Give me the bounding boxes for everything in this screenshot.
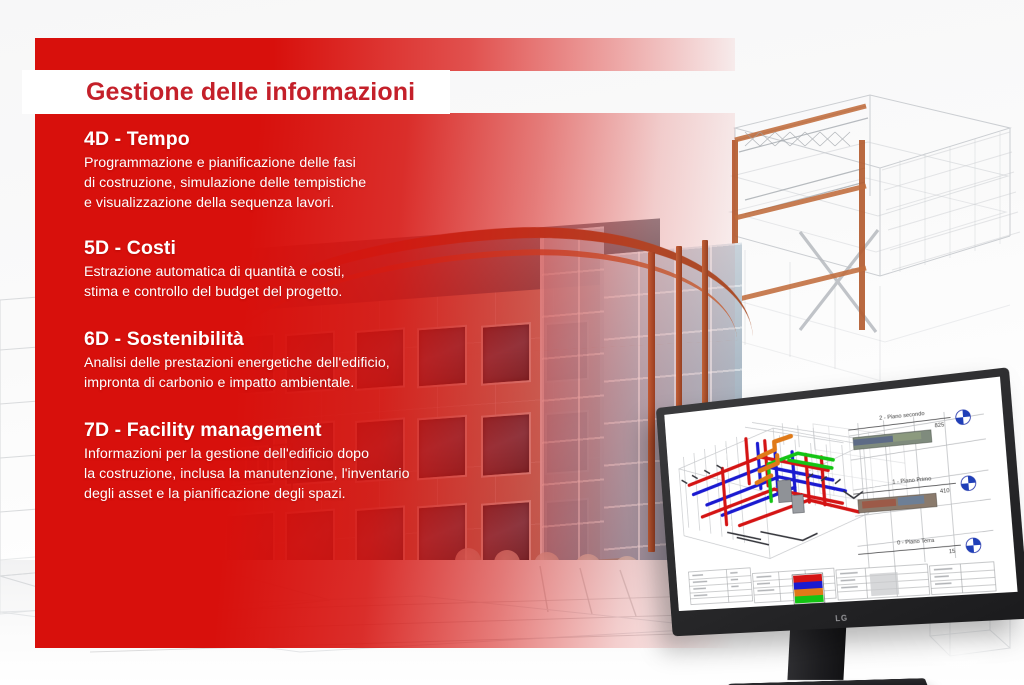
level-elevation-1: 410 [940,488,950,495]
section-5d: 5D - Costi Estrazione automatica di quan… [84,237,504,302]
section-6d: 6D - Sostenibilità Analisi delle prestaz… [84,328,504,393]
section-body: Analisi delle prestazioni energetiche de… [84,353,504,393]
section-body: Informazioni per la gestione dell'edific… [84,444,504,504]
title-band: Gestione delle informazioni [22,70,450,114]
page-title: Gestione delle informazioni [22,78,415,107]
section-body: Estrazione automatica di quantità e cost… [84,262,504,302]
section-heading: 4D - Tempo [84,128,504,151]
body-line: la costruzione, inclusa la manutenzione,… [84,464,504,484]
body-line: impronta di carbonio e impatto ambiental… [84,373,504,393]
body-line: Programmazione e pianificazione delle fa… [84,153,504,173]
section-body: Programmazione e pianificazione delle fa… [84,153,504,213]
monitor: 2 - Piano secondo 825 1 - Piano Primo 41… [650,388,1016,678]
body-line: Informazioni per la gestione dell'edific… [84,444,504,464]
slide-canvas: Gestione delle informazioni 4D - Tempo P… [0,0,1024,685]
body-line: di costruzione, simulazione delle tempis… [84,173,504,193]
section-4d: 4D - Tempo Programmazione e pianificazio… [84,128,504,213]
section-heading: 5D - Costi [84,237,504,260]
monitor-brand-logo: LG [835,614,848,624]
body-line: Estrazione automatica di quantità e cost… [84,262,504,282]
level-elevation-2: 825 [934,422,944,429]
section-7d: 7D - Facility management Informazioni pe… [84,419,504,504]
sections-list: 4D - Tempo Programmazione e pianificazio… [84,128,504,504]
section-heading: 7D - Facility management [84,419,504,442]
body-line: degli asset e la pianificazione degli sp… [84,484,504,504]
body-line: Analisi delle prestazioni energetiche de… [84,353,504,373]
bim-drawing[interactable]: 2 - Piano secondo 825 1 - Piano Primo 41… [664,377,1017,611]
red-accent-bar [35,38,735,71]
mep-isometric-view [664,377,1017,611]
section-heading: 6D - Sostenibilità [84,328,504,351]
body-line: stima e controllo del budget del progett… [84,282,504,302]
level-elevation-0: 15 [949,549,956,556]
monitor-screen[interactable]: 2 - Piano secondo 825 1 - Piano Primo 41… [664,377,1017,611]
monitor-bezel: 2 - Piano secondo 825 1 - Piano Primo 41… [656,367,1024,636]
body-line: e visualizzazione della sequenza lavori. [84,193,504,213]
